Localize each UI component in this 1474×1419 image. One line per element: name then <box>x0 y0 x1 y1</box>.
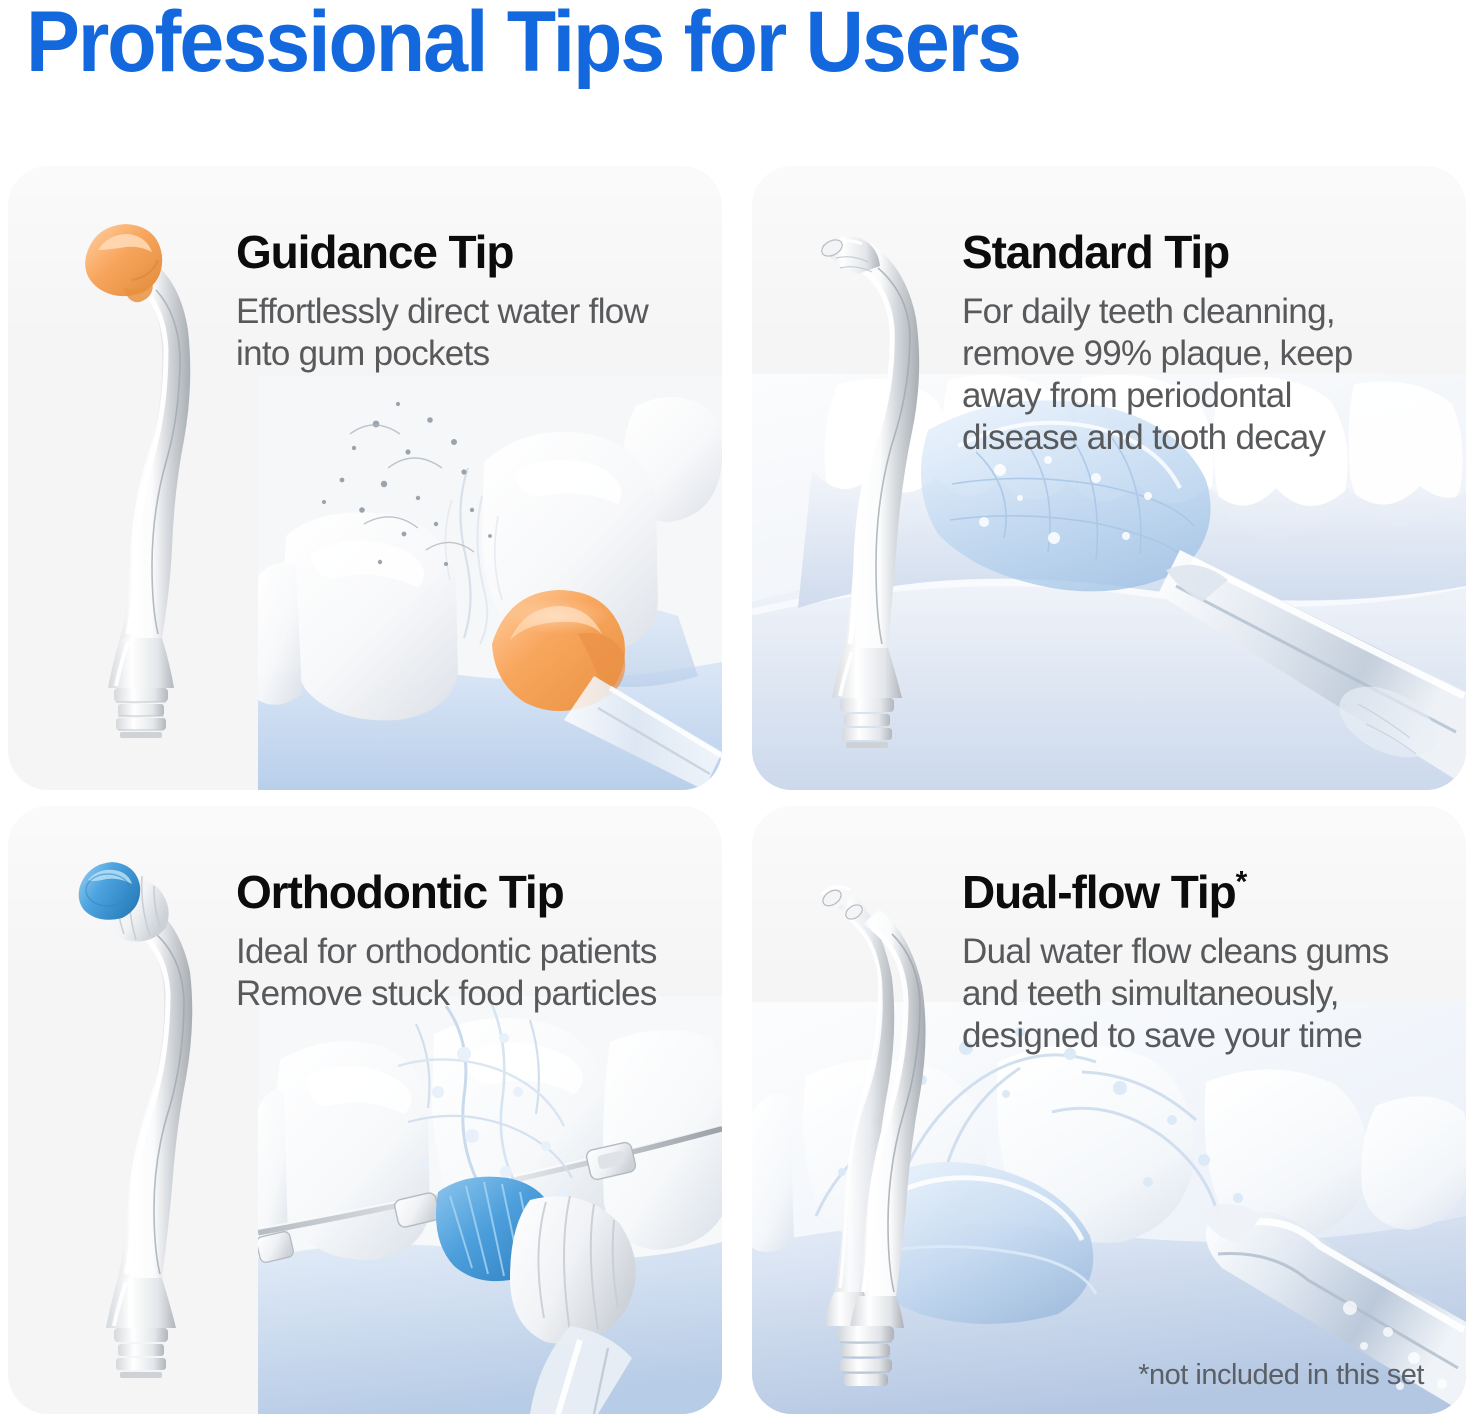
infographic-page: Professional Tips for Users <box>0 0 1474 1419</box>
braces-brush-cleaning-illustration <box>258 996 722 1414</box>
tip-title: Dual-flow Tip* <box>962 868 1414 917</box>
tip-title: Guidance Tip <box>236 228 676 277</box>
tip-card-orthodontic[interactable]: Orthodontic Tip Ideal for orthodontic pa… <box>8 806 722 1414</box>
guidance-tip-nozzle-icon <box>66 218 216 738</box>
tip-description: Dual water flow cleans gums and teeth si… <box>962 931 1414 1057</box>
orthodontic-tip-nozzle-icon <box>66 858 216 1378</box>
tip-description: Effortlessly direct water flow into gum … <box>236 291 676 375</box>
tip-text-block: Dual-flow Tip* Dual water flow cleans gu… <box>962 868 1414 1057</box>
tip-card-guidance[interactable]: Guidance Tip Effortlessly direct water f… <box>8 166 722 790</box>
standard-tip-nozzle-icon <box>792 228 942 748</box>
tip-title: Standard Tip <box>962 228 1414 277</box>
tip-title: Orthodontic Tip <box>236 868 676 917</box>
tip-card-dual-flow[interactable]: Dual-flow Tip* Dual water flow cleans gu… <box>752 806 1466 1414</box>
tip-text-block: Orthodontic Tip Ideal for orthodontic pa… <box>236 868 676 1015</box>
tip-text-block: Guidance Tip Effortlessly direct water f… <box>236 228 676 375</box>
dual-flow-tip-nozzle-icon <box>792 868 942 1388</box>
tip-card-standard[interactable]: Standard Tip For daily teeth cleanning, … <box>752 166 1466 790</box>
tip-text-block: Standard Tip For daily teeth cleanning, … <box>962 228 1414 459</box>
page-title: Professional Tips for Users <box>26 0 1020 89</box>
tip-description: Ideal for orthodontic patients Remove st… <box>236 931 676 1015</box>
tip-title-text: Dual-flow Tip <box>962 866 1236 918</box>
tip-description: For daily teeth cleanning, remove 99% pl… <box>962 291 1414 459</box>
tips-card-grid: Guidance Tip Effortlessly direct water f… <box>8 166 1466 1414</box>
tip-title-asterisk: * <box>1236 866 1247 899</box>
teeth-gum-pocket-spray-illustration <box>258 376 722 790</box>
footnote-not-included: *not included in this set <box>1138 1359 1424 1392</box>
